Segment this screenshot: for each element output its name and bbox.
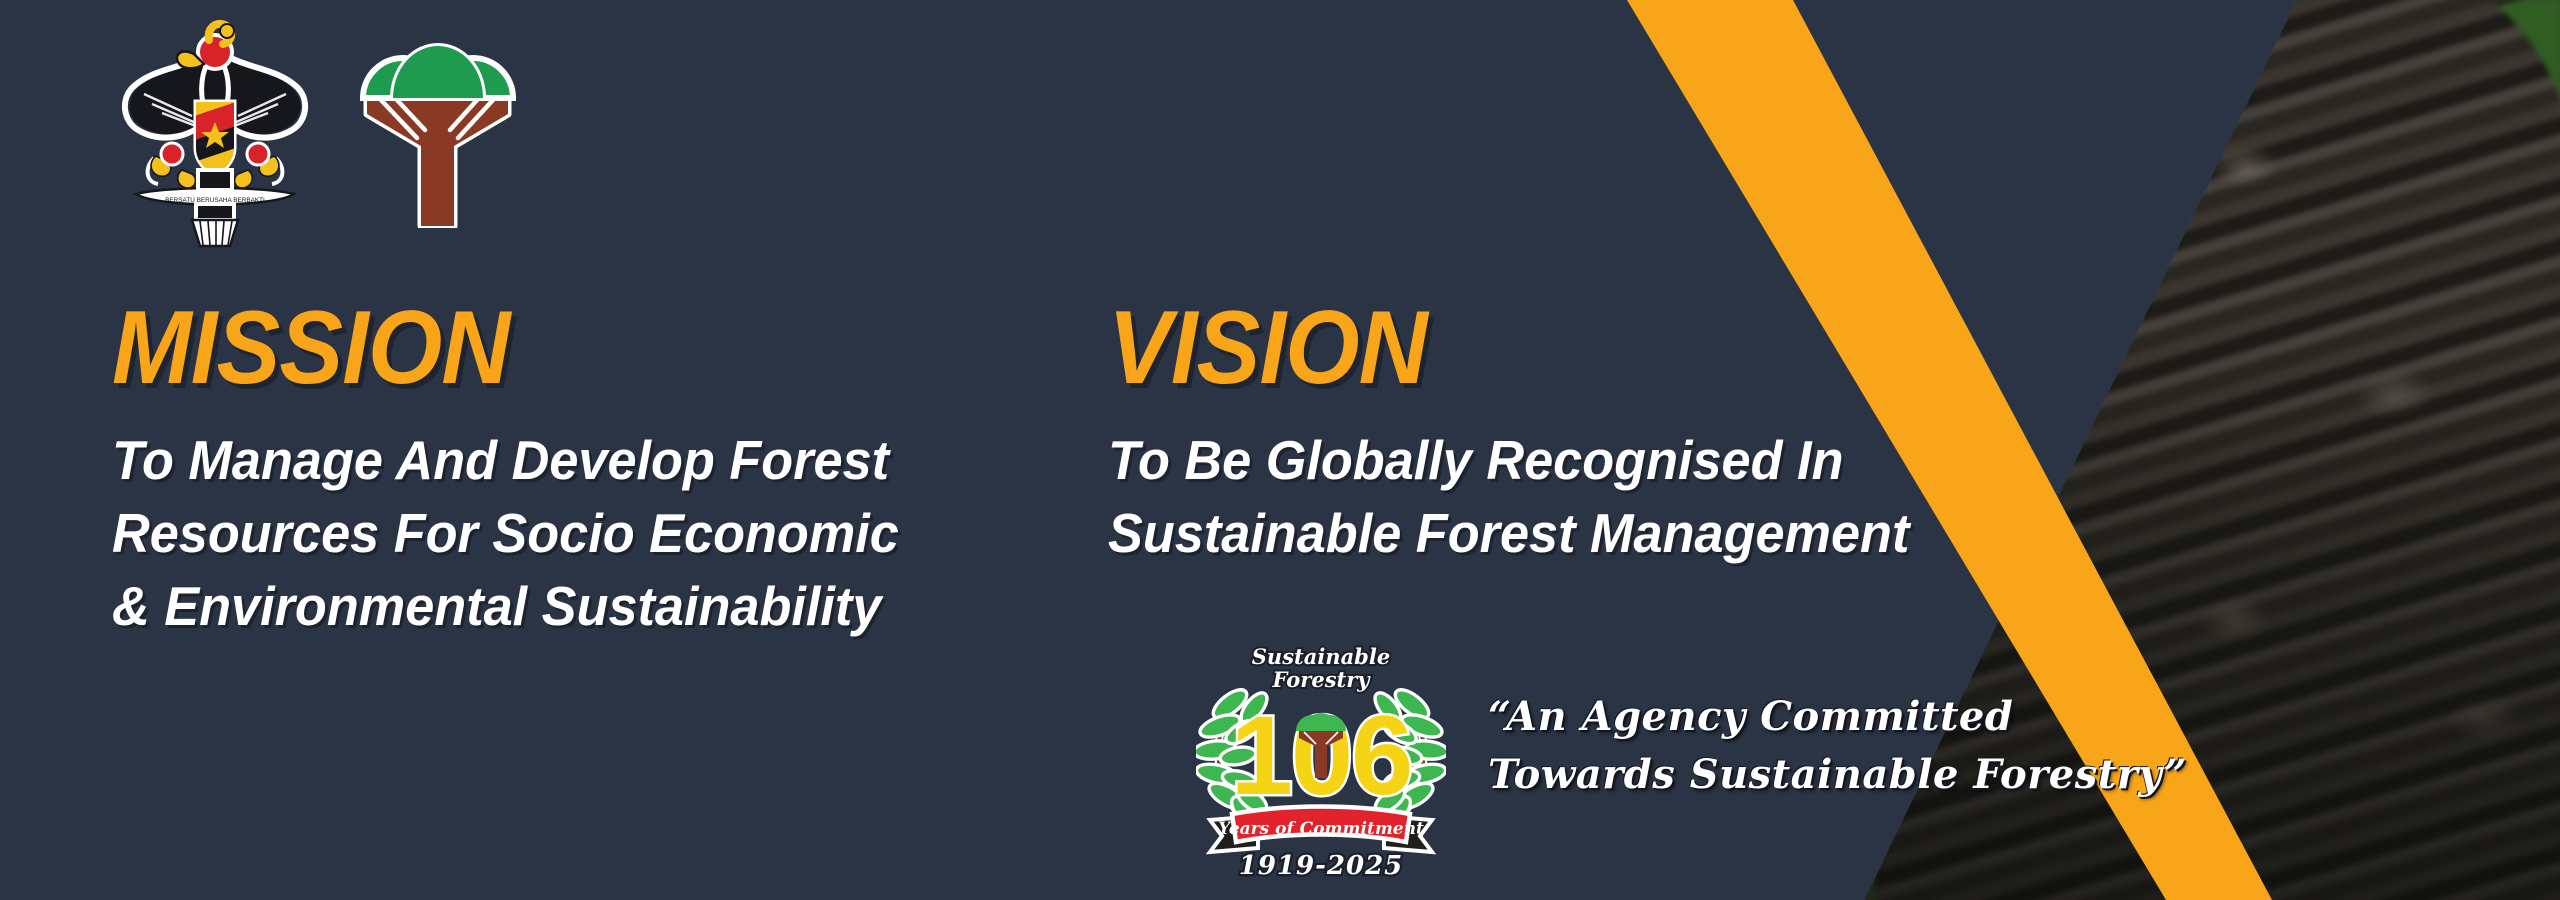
forest-department-tree-logo-icon [345, 18, 530, 228]
vision-line-2: Sustainable Forest Management [1108, 497, 2020, 570]
sarawak-coat-of-arms-icon: BERSATU BERUSAHA BERBAKTI [108, 18, 323, 248]
vision-line-1: To Be Globally Recognised In [1108, 424, 2020, 497]
mission-line-3: & Environmental Sustainability [112, 570, 1043, 643]
logo-group: BERSATU BERUSAHA BERBAKTI [108, 18, 530, 248]
mission-vision-banner: BERSATU BERUSAHA BERBAKTI [0, 0, 2560, 900]
mission-line-1: To Manage And Develop Forest [112, 424, 1043, 497]
emblem-years: 1919-2025 [1239, 851, 1404, 881]
vision-heading: VISION [1108, 296, 1991, 400]
emblem-top-text-2: Forestry [1272, 667, 1372, 692]
vision-block: VISION To Be Globally Recognised In Sust… [1108, 296, 2068, 570]
mission-heading: MISSION [112, 296, 1014, 400]
mission-line-2: Resources For Socio Economic [112, 497, 1043, 570]
emblem-top-text-1: Sustainable [1252, 644, 1390, 669]
anniversary-106-emblem: Sustainable Forestry 106 Years of Commit… [1196, 634, 1446, 884]
tagline-line-2: Towards Sustainable Forestry” [1488, 746, 2088, 804]
mission-block: MISSION To Manage And Develop Forest Res… [112, 296, 1092, 643]
tagline-block: “An Agency Committed Towards Sustainable… [1488, 688, 2088, 804]
ribbon-text: Years of Commitment [1218, 819, 1424, 839]
tagline-line-1: “An Agency Committed [1488, 688, 2088, 746]
